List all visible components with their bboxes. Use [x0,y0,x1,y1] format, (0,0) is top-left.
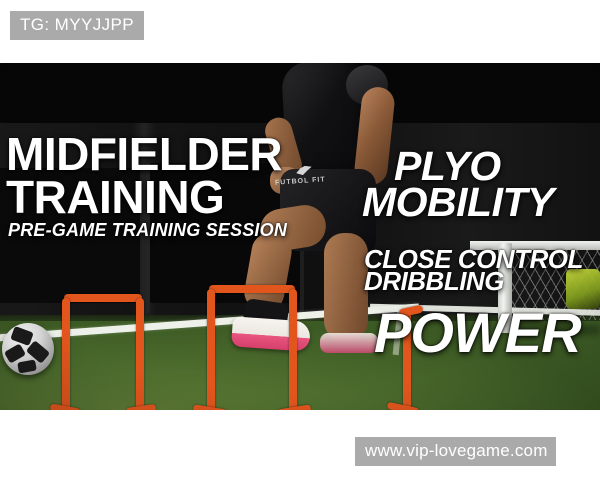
hurdle-center [203,285,301,410]
athlete-standing-leg [324,233,368,341]
headline-subtitle: PRE-GAME TRAINING SESSION [8,220,287,240]
feature-power: POWER [374,304,581,362]
headline-line-2: TRAINING [6,174,224,220]
poster-page: FUTBOL FIT MIDFIELDER TRAINI [0,0,600,480]
feature-mobility: MOBILITY [362,181,554,223]
hurdle-left [58,294,148,410]
website-watermark-badge: www.vip-lovegame.com [355,437,556,466]
soccer-ball [2,323,54,375]
feature-dribbling: DRIBBLING [364,268,504,295]
training-photo: FUTBOL FIT MIDFIELDER TRAINI [0,63,600,410]
athlete-standing-boot [320,333,378,353]
telegram-handle-badge: TG: MYYJJPP [10,11,144,40]
